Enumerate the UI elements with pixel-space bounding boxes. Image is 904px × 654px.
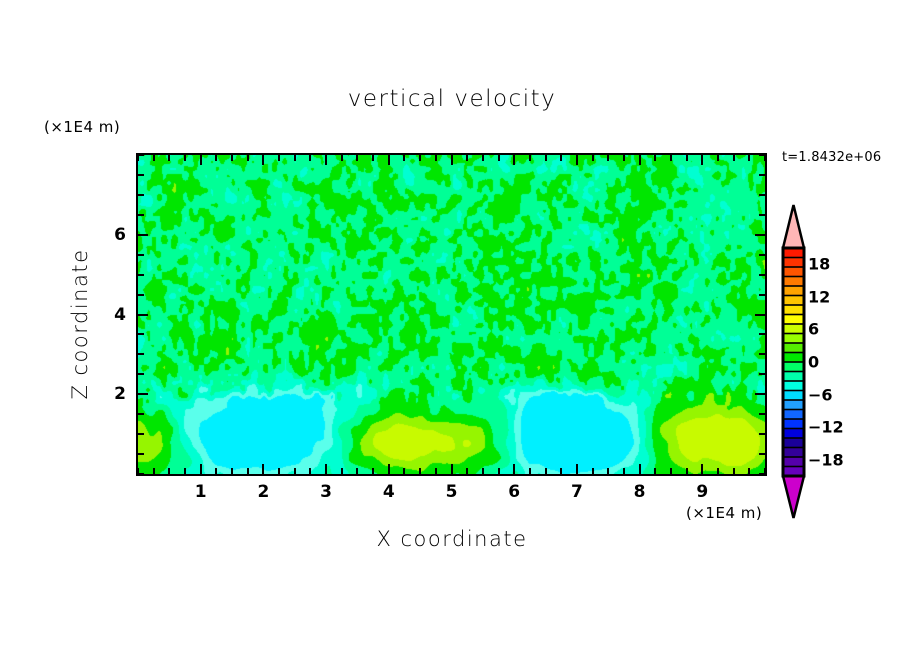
x-tick-bottom [654, 468, 656, 474]
y-tick-left [138, 234, 148, 236]
x-tick-bottom [592, 468, 594, 474]
x-axis-units-label: (×1E4 m) [686, 504, 762, 522]
x-tick-top [435, 155, 437, 161]
x-tick-bottom [482, 468, 484, 474]
x-tick-bottom [168, 468, 170, 474]
x-tick-top [654, 155, 656, 161]
x-tick-top [325, 155, 327, 165]
x-tick-top [545, 155, 547, 161]
x-tick-label: 6 [508, 482, 520, 502]
x-tick-top [153, 155, 155, 161]
x-tick-label: 2 [257, 482, 269, 502]
x-tick-bottom [686, 468, 688, 474]
y-tick-left [138, 373, 144, 375]
x-tick-bottom [262, 464, 264, 474]
y-tick-right [755, 393, 765, 395]
y-tick-right [759, 373, 765, 375]
y-tick-right [759, 413, 765, 415]
colorbar[interactable]: 181260−6−12−18 [780, 200, 900, 525]
y-tick-right [759, 353, 765, 355]
x-tick-top [200, 155, 202, 165]
x-tick-bottom [341, 468, 343, 474]
x-tick-top [309, 155, 311, 161]
x-tick-bottom [278, 468, 280, 474]
y-tick-label: 4 [102, 305, 126, 325]
x-tick-bottom [733, 468, 735, 474]
timestamp-annotation: t=1.8432e+06 [782, 150, 881, 165]
y-tick-right [755, 234, 765, 236]
x-tick-top [513, 155, 515, 165]
x-tick-top [403, 155, 405, 161]
x-tick-label: 3 [320, 482, 332, 502]
y-tick-left [138, 294, 144, 296]
x-tick-top [466, 155, 468, 161]
x-tick-bottom [701, 464, 703, 474]
colorbar-tick-label: 0 [808, 353, 819, 372]
x-tick-top [733, 155, 735, 161]
x-tick-bottom [184, 468, 186, 474]
figure-root: vertical velocity (×1E4 m) t=1.8432e+06 … [0, 0, 904, 654]
x-tick-top [701, 155, 703, 165]
x-tick-label: 7 [571, 482, 583, 502]
y-tick-right [759, 154, 765, 156]
y-tick-right [759, 453, 765, 455]
x-tick-bottom [372, 468, 374, 474]
x-tick-bottom [513, 464, 515, 474]
y-tick-left [138, 333, 144, 335]
x-tick-top [623, 155, 625, 161]
x-tick-top [294, 155, 296, 161]
x-tick-bottom [670, 468, 672, 474]
contour-plot-area[interactable] [136, 153, 767, 476]
x-tick-bottom [560, 468, 562, 474]
x-tick-top [576, 155, 578, 165]
x-tick-top [670, 155, 672, 161]
y-tick-left [138, 254, 144, 256]
y-tick-right [759, 333, 765, 335]
x-tick-bottom [309, 468, 311, 474]
x-tick-bottom [466, 468, 468, 474]
y-tick-left [138, 353, 144, 355]
colorbar-tick-label: −12 [808, 418, 844, 437]
x-tick-top [529, 155, 531, 161]
x-tick-top [184, 155, 186, 161]
x-tick-bottom [607, 468, 609, 474]
y-tick-right [759, 214, 765, 216]
x-tick-bottom [153, 468, 155, 474]
x-tick-top [592, 155, 594, 161]
x-tick-bottom [748, 468, 750, 474]
y-tick-right [759, 473, 765, 475]
x-tick-top [247, 155, 249, 161]
colorbar-tick-label: 18 [808, 255, 830, 274]
x-tick-bottom [717, 468, 719, 474]
y-axis-title: Z coordinate [68, 224, 92, 424]
x-tick-top [686, 155, 688, 161]
y-tick-right [759, 254, 765, 256]
y-tick-label: 2 [102, 384, 126, 404]
x-tick-top [451, 155, 453, 165]
x-tick-bottom [529, 468, 531, 474]
x-tick-top [215, 155, 217, 161]
y-tick-left [138, 453, 144, 455]
y-tick-left [138, 154, 144, 156]
y-tick-right [759, 194, 765, 196]
x-tick-top [560, 155, 562, 161]
x-tick-label: 1 [195, 482, 207, 502]
x-tick-top [639, 155, 641, 165]
x-tick-top [356, 155, 358, 161]
x-tick-bottom [294, 468, 296, 474]
y-tick-left [138, 274, 144, 276]
x-tick-bottom [356, 468, 358, 474]
x-tick-label: 9 [696, 482, 708, 502]
y-tick-left [138, 473, 144, 475]
x-tick-bottom [419, 468, 421, 474]
x-tick-label: 4 [383, 482, 395, 502]
y-tick-left [138, 194, 144, 196]
x-tick-top [278, 155, 280, 161]
y-tick-left [138, 433, 144, 435]
x-tick-bottom [545, 468, 547, 474]
x-tick-top [262, 155, 264, 165]
x-tick-bottom [403, 468, 405, 474]
x-tick-top [482, 155, 484, 161]
x-tick-bottom [231, 468, 233, 474]
x-tick-top [388, 155, 390, 165]
y-tick-left [138, 393, 148, 395]
contour-field-canvas [138, 155, 765, 474]
y-tick-right [759, 433, 765, 435]
colorbar-tick-label: 6 [808, 320, 819, 339]
page-title: vertical velocity [0, 86, 904, 112]
y-tick-right [759, 274, 765, 276]
colorbar-tick-label: 12 [808, 287, 830, 306]
x-tick-bottom [325, 464, 327, 474]
x-tick-bottom [200, 464, 202, 474]
y-tick-right [759, 294, 765, 296]
colorbar-tick-label: −18 [808, 450, 844, 469]
y-tick-left [138, 214, 144, 216]
x-tick-bottom [247, 468, 249, 474]
x-tick-top [372, 155, 374, 161]
x-tick-bottom [215, 468, 217, 474]
colorbar-gradient [780, 200, 900, 525]
x-tick-label: 5 [446, 482, 458, 502]
y-tick-left [138, 314, 148, 316]
x-tick-bottom [576, 464, 578, 474]
colorbar-tick-label: −6 [808, 385, 833, 404]
x-tick-top [607, 155, 609, 161]
x-tick-top [419, 155, 421, 161]
x-tick-top [498, 155, 500, 161]
y-tick-right [755, 314, 765, 316]
x-tick-label: 8 [634, 482, 646, 502]
x-tick-bottom [498, 468, 500, 474]
x-tick-top [168, 155, 170, 161]
x-tick-bottom [435, 468, 437, 474]
x-tick-bottom [388, 464, 390, 474]
x-tick-top [717, 155, 719, 161]
x-tick-top [341, 155, 343, 161]
x-tick-top [748, 155, 750, 161]
x-tick-bottom [623, 468, 625, 474]
y-tick-left [138, 413, 144, 415]
x-tick-bottom [451, 464, 453, 474]
y-tick-right [759, 174, 765, 176]
x-tick-bottom [639, 464, 641, 474]
y-tick-left [138, 174, 144, 176]
y-axis-units-label: (×1E4 m) [44, 118, 120, 136]
x-axis-title: X coordinate [0, 527, 904, 551]
y-tick-label: 6 [102, 225, 126, 245]
x-tick-top [231, 155, 233, 161]
